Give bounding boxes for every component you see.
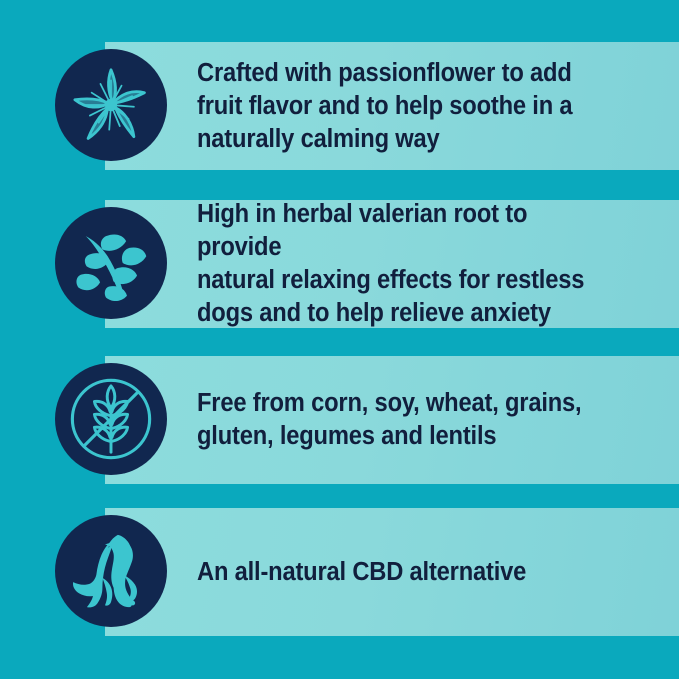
feature-row: Free from corn, soy, wheat, grains, glut… <box>0 356 679 484</box>
feature-icon-badge <box>55 515 167 627</box>
feature-icon-badge <box>55 207 167 319</box>
benefits-infographic: Crafted with passionflower to add fruit … <box>0 0 679 679</box>
feature-row: High in herbal valerian root to provide … <box>0 200 679 328</box>
feature-icon-badge <box>55 49 167 161</box>
feature-row: An all-natural CBD alternative <box>0 508 679 636</box>
feature-text: Crafted with passionflower to add fruit … <box>197 42 616 170</box>
feature-text: High in herbal valerian root to provide … <box>197 200 616 328</box>
feature-text: Free from corn, soy, wheat, grains, glut… <box>197 356 616 484</box>
dog-icon <box>68 528 154 614</box>
feature-text: An all-natural CBD alternative <box>197 508 616 636</box>
feature-icon-badge <box>55 363 167 475</box>
valerian-leaf-icon <box>69 221 153 305</box>
feature-row: Crafted with passionflower to add fruit … <box>0 42 679 170</box>
no-grain-icon <box>65 373 157 465</box>
passionflower-icon <box>67 61 155 149</box>
